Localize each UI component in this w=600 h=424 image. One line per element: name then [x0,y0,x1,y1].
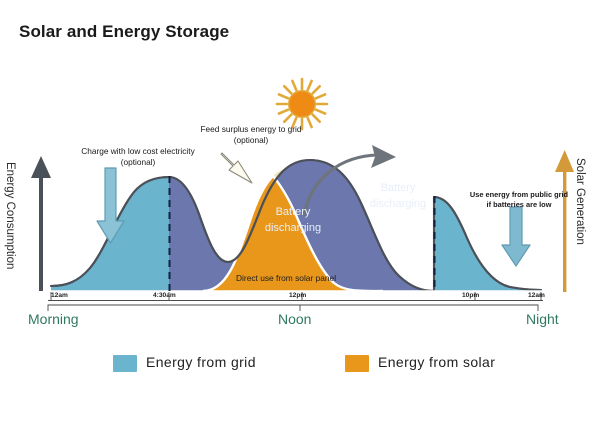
diagram-canvas: Solar and Energy Storage [0,0,600,424]
period-label-morning: Morning [28,311,79,327]
battery-discharging-label-1-line1: Battery [245,205,341,220]
public-grid-annotation-line1: Use energy from public grid [455,190,583,200]
period-label-noon: Noon [278,311,311,327]
period-label-night: Night [526,311,559,327]
legend-label-grid: Energy from grid [146,354,256,370]
charge-annotation-line2: (optional) [48,157,228,168]
surplus-annotation-line2: (optional) [176,135,326,146]
surplus-annotation-line1: Feed surplus energy to grid [176,124,326,135]
legend-swatch-solar [345,355,369,372]
legend-swatch-grid [113,355,137,372]
y-axis-left-label: Energy Consumption [4,162,16,269]
sun-icon [277,79,327,129]
x-tick-label-3: 10pm [462,292,479,299]
energy-consumption-axis-arrow [31,156,51,291]
x-tick-label-0: 12am [51,292,68,299]
charge-annotation-line1: Charge with low cost electricity [48,146,228,157]
legend-label-solar: Energy from solar [378,354,495,370]
battery-discharging-label-2-line1: Battery [350,181,446,196]
battery-discharging-label-2-line2: discharging [350,197,446,212]
x-tick-label-4: 12am [528,292,545,299]
solar-generation-axis-arrow [555,150,574,292]
grid-energy-right-area [434,197,541,291]
x-tick-label-2: 12pm [289,292,306,299]
x-tick-label-1: 4:30am [153,292,176,299]
battery-discharging-label-1-line2: discharging [245,221,341,236]
public-grid-down-arrow-icon [502,207,530,266]
public-grid-annotation-line2: if batteries are low [455,200,583,210]
direct-use-label: Direct use from solar panel [236,273,336,283]
